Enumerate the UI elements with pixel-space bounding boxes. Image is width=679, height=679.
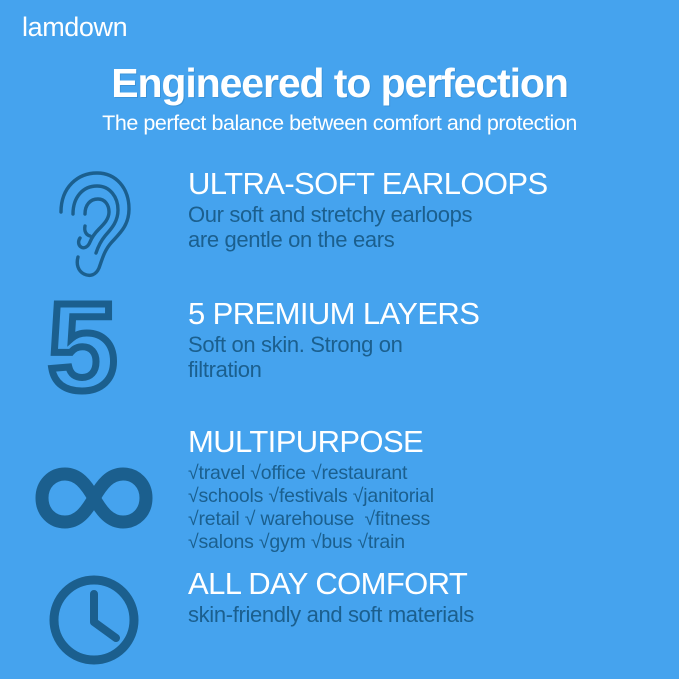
feature-description: Soft on skin. Strong on filtration bbox=[188, 333, 668, 383]
feature-icon-container: 5 bbox=[0, 298, 188, 406]
page-subtitle: The perfect balance between comfort and … bbox=[0, 112, 679, 136]
feature-text-container: ALL DAY COMFORT skin-friendly and soft m… bbox=[188, 568, 668, 628]
feature-checklist: √travel √office √restaurant √schools √fe… bbox=[188, 462, 668, 555]
feature-title: ULTRA-SOFT EARLOOPS bbox=[188, 168, 668, 201]
feature-text-container: ULTRA-SOFT EARLOOPS Our soft and stretch… bbox=[188, 168, 668, 253]
feature-description-line: Our soft and stretchy earloops bbox=[188, 203, 668, 228]
feature-description-line: filtration bbox=[188, 358, 668, 383]
header-block: Engineered to perfection The perfect bal… bbox=[0, 62, 679, 136]
number-five-icon: 5 bbox=[48, 298, 140, 406]
feature-description-line: skin-friendly and soft materials bbox=[188, 603, 668, 628]
checklist-line: √salons √gym √bus √train bbox=[188, 531, 668, 554]
checklist-line: √schools √festivals √janitorial bbox=[188, 485, 668, 508]
infinity-icon bbox=[34, 462, 154, 534]
checklist-line: √retail √ warehouse √fitness bbox=[188, 508, 668, 531]
feature-description-line: Soft on skin. Strong on bbox=[188, 333, 668, 358]
ear-icon bbox=[53, 168, 135, 280]
feature-icon-container bbox=[0, 168, 188, 280]
feature-description: skin-friendly and soft materials bbox=[188, 603, 668, 628]
feature-text-container: MULTIPURPOSE √travel √office √restaurant… bbox=[188, 426, 668, 555]
feature-text-container: 5 PREMIUM LAYERS Soft on skin. Strong on… bbox=[188, 298, 668, 383]
feature-title: MULTIPURPOSE bbox=[188, 426, 668, 459]
clock-icon bbox=[46, 572, 142, 668]
feature-description-line: are gentle on the ears bbox=[188, 228, 668, 253]
feature-title: 5 PREMIUM LAYERS bbox=[188, 298, 668, 331]
page-title: Engineered to perfection bbox=[0, 62, 679, 105]
feature-title: ALL DAY COMFORT bbox=[188, 568, 668, 601]
number-five-glyph: 5 bbox=[48, 298, 140, 400]
feature-icon-container bbox=[0, 426, 188, 534]
promo-infographic: lamdown Engineered to perfection The per… bbox=[0, 0, 679, 679]
brand-logo: lamdown bbox=[22, 14, 127, 41]
feature-icon-container bbox=[0, 568, 188, 668]
feature-description: Our soft and stretchy earloops are gentl… bbox=[188, 203, 668, 253]
checklist-line: √travel √office √restaurant bbox=[188, 462, 668, 485]
